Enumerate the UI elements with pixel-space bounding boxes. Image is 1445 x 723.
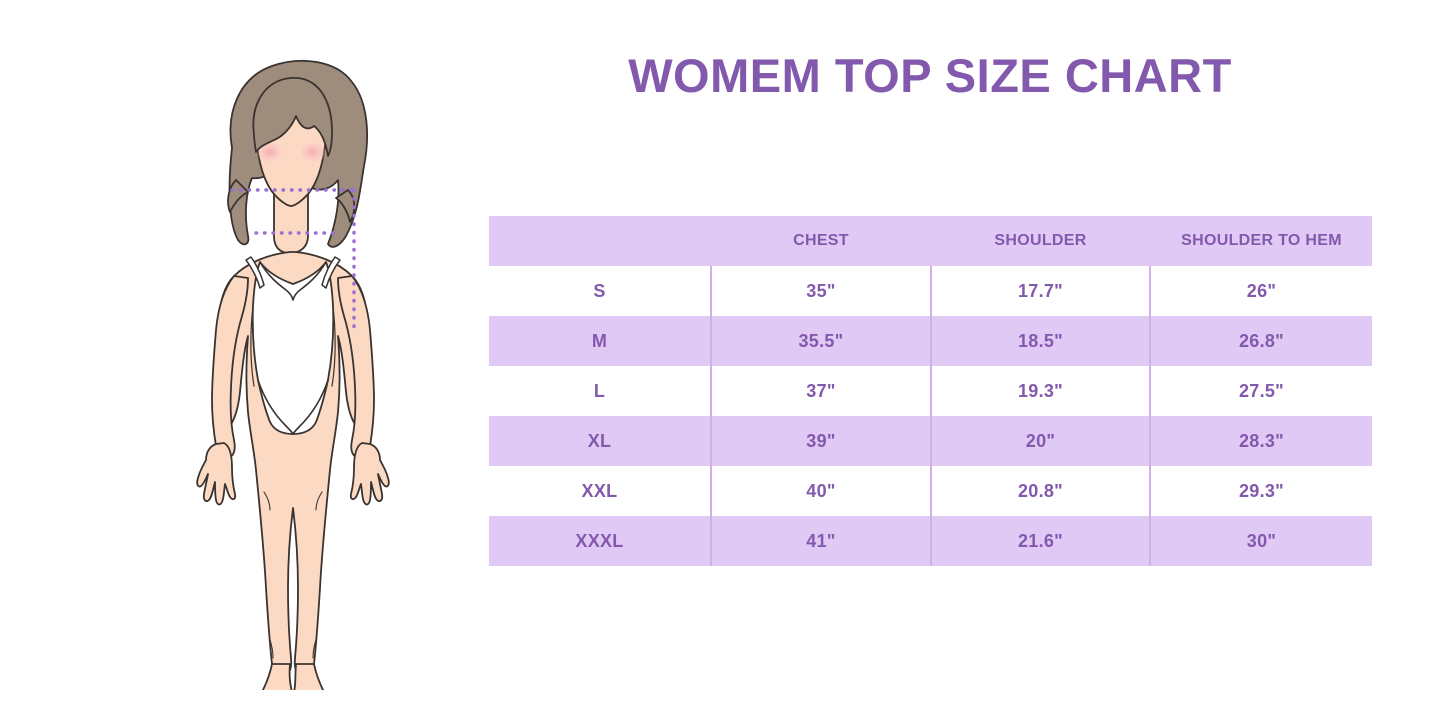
table-row: M 35.5" 18.5" 26.8": [489, 316, 1372, 366]
female-body-illustration: [160, 40, 420, 690]
hand-right: [351, 443, 389, 504]
bodysuit: [253, 262, 334, 434]
header-cell-size: [489, 216, 711, 266]
cell-shoulder-to-hem: 27.5": [1150, 366, 1372, 416]
cell-shoulder-to-hem: 26.8": [1150, 316, 1372, 366]
cell-shoulder: 20": [931, 416, 1150, 466]
cell-shoulder-to-hem: 30": [1150, 516, 1372, 566]
header-cell-shoulder-to-hem: SHOULDER TO HEM: [1150, 216, 1372, 266]
cell-size: L: [489, 366, 711, 416]
cell-size: XL: [489, 416, 711, 466]
table-row: S 35" 17.7" 26": [489, 266, 1372, 316]
cell-shoulder: 17.7": [931, 266, 1150, 316]
table-header-row: CHEST SHOULDER SHOULDER TO HEM: [489, 216, 1372, 266]
cell-shoulder-to-hem: 28.3": [1150, 416, 1372, 466]
foot-right: [294, 664, 326, 690]
header-cell-chest: CHEST: [711, 216, 931, 266]
cell-shoulder: 20.8": [931, 466, 1150, 516]
cell-shoulder-to-hem: 26": [1150, 266, 1372, 316]
cell-size: M: [489, 316, 711, 366]
table-row: L 37" 19.3" 27.5": [489, 366, 1372, 416]
cell-size: S: [489, 266, 711, 316]
cell-chest: 39": [711, 416, 931, 466]
size-chart-table: CHEST SHOULDER SHOULDER TO HEM S 35" 17.…: [489, 216, 1372, 566]
cell-chest: 40": [711, 466, 931, 516]
table-row: XXXL 41" 21.6" 30": [489, 516, 1372, 566]
cell-size: XXL: [489, 466, 711, 516]
cell-shoulder: 21.6": [931, 516, 1150, 566]
table-row: XL 39" 20" 28.3": [489, 416, 1372, 466]
cell-shoulder-to-hem: 29.3": [1150, 466, 1372, 516]
foot-left: [260, 664, 292, 690]
cell-chest: 35.5": [711, 316, 931, 366]
table-row: XXL 40" 20.8" 29.3": [489, 466, 1372, 516]
hand-left: [197, 443, 235, 504]
cell-chest: 41": [711, 516, 931, 566]
blush-right: [299, 141, 327, 163]
cell-shoulder: 19.3": [931, 366, 1150, 416]
cell-size: XXXL: [489, 516, 711, 566]
cell-chest: 37": [711, 366, 931, 416]
header-cell-shoulder: SHOULDER: [931, 216, 1150, 266]
figure-panel: SHOULDER CHEST SHOULDER TO HEM: [0, 0, 470, 723]
cell-shoulder: 18.5": [931, 316, 1150, 366]
cell-chest: 35": [711, 266, 931, 316]
page-title: WOMEM TOP SIZE CHART: [470, 48, 1390, 103]
